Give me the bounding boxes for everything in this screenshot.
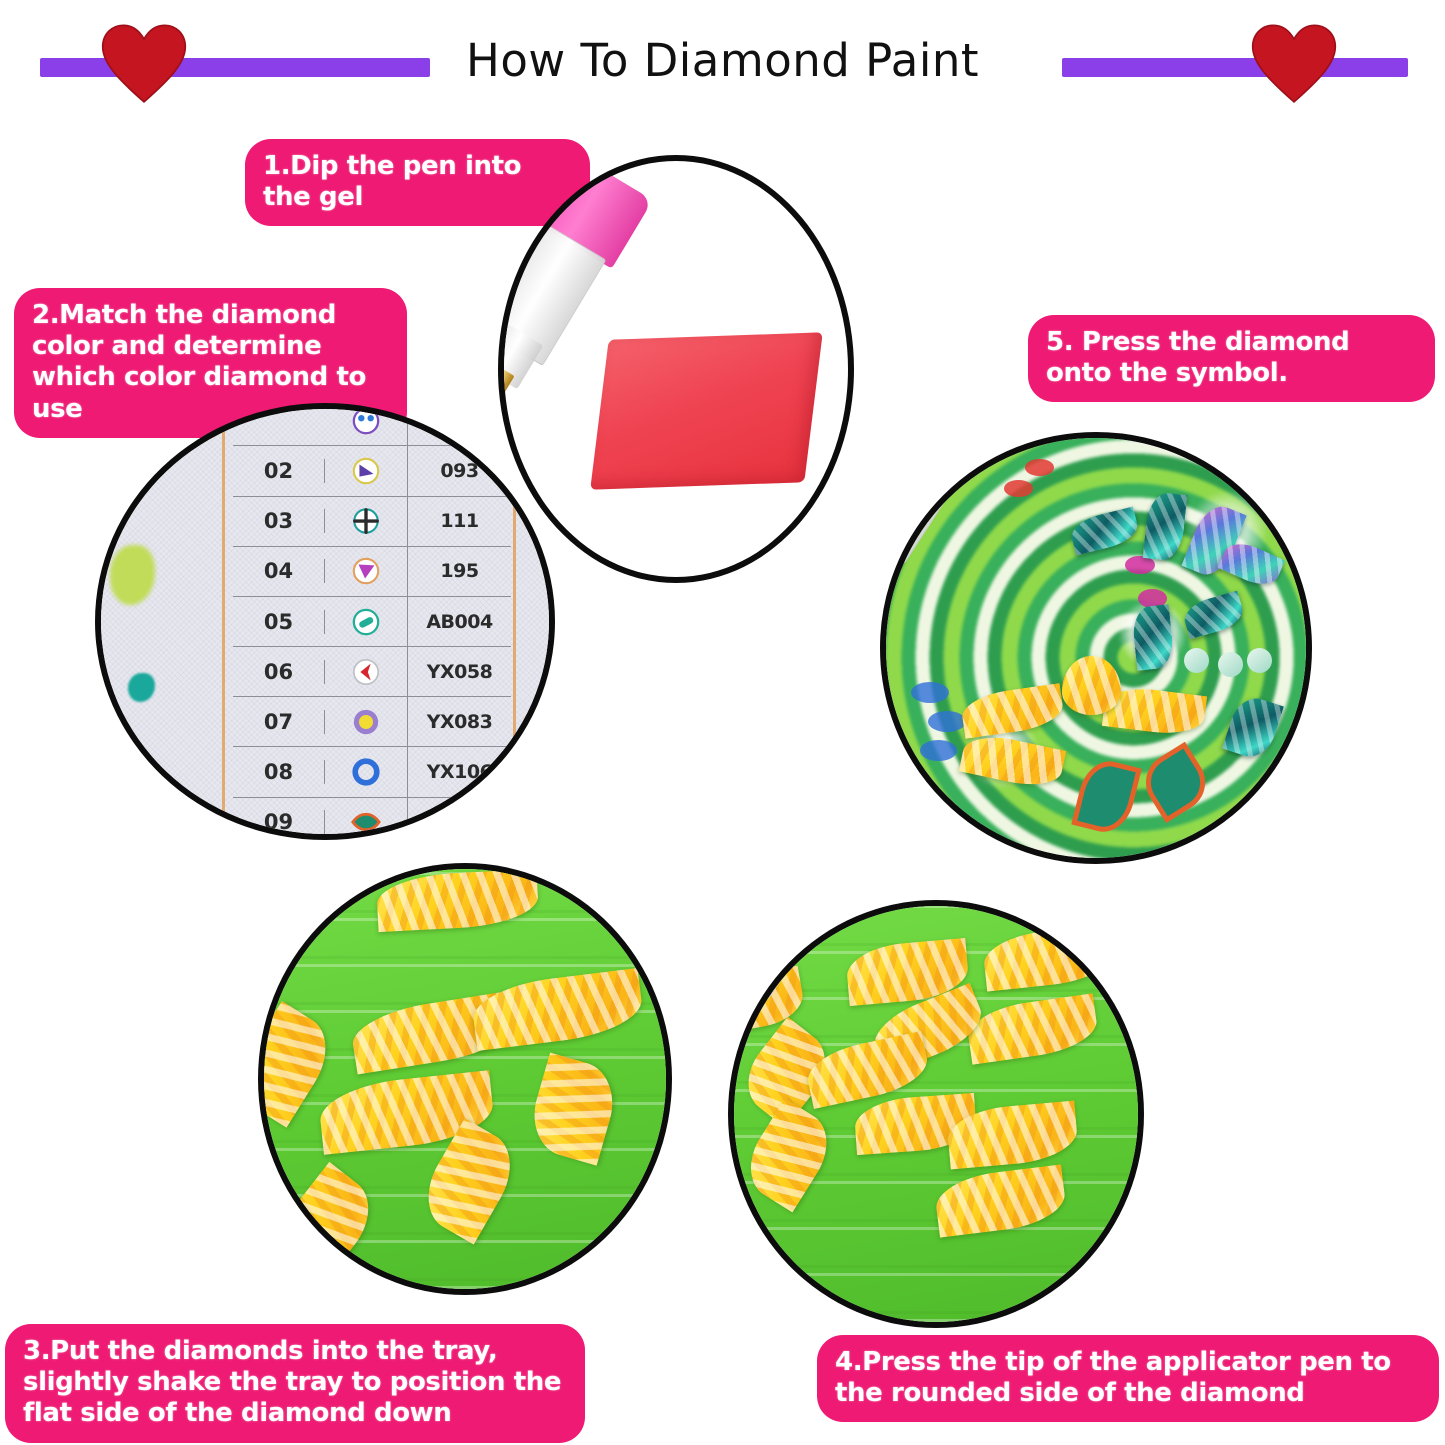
page-title: How To Diamond Paint xyxy=(0,34,1445,87)
step-5-label: 5. Press the diamond onto the symbol. xyxy=(1028,315,1435,402)
printed-symbol xyxy=(1004,480,1033,497)
triangle-icon xyxy=(325,446,408,495)
photo-inner xyxy=(264,869,666,1289)
capsule-icon xyxy=(325,597,408,646)
table-row: 09 YX125 xyxy=(233,798,511,840)
table-row: 08 YX106 xyxy=(233,747,511,797)
row-code: 111 xyxy=(408,510,511,532)
row-number: 07 xyxy=(233,710,325,734)
photo-inner xyxy=(504,161,848,577)
chevron-left-icon xyxy=(325,647,408,696)
row-number: 02 xyxy=(233,459,325,483)
pen-dipping-into-gel-photo xyxy=(498,155,854,583)
row-code: 195 xyxy=(408,560,511,582)
printed-symbol xyxy=(911,682,949,703)
row-code: AB004 xyxy=(408,611,511,633)
gel-pad xyxy=(591,332,824,489)
triangle-down-icon xyxy=(325,547,408,596)
canvas-edge-line xyxy=(513,409,516,834)
canvas-edge-line xyxy=(222,409,225,834)
filled-disc-icon xyxy=(325,697,408,746)
photo-inner xyxy=(886,438,1306,858)
table-row: 02 093 xyxy=(233,446,511,496)
symbol-legend-table: 028 02 093 03 xyxy=(233,403,511,840)
row-number: 05 xyxy=(233,610,325,634)
plus-icon xyxy=(325,497,408,546)
row-code: YX083 xyxy=(408,711,511,733)
row-code: YX106 xyxy=(408,761,511,783)
infographic-page: How To Diamond Paint 1.Dip the pen into … xyxy=(0,0,1445,1445)
ring-icon xyxy=(325,747,408,796)
row-code: 093 xyxy=(408,460,511,482)
row-number: 09 xyxy=(233,810,325,834)
row-number: 08 xyxy=(233,760,325,784)
printed-symbol xyxy=(1025,459,1054,476)
photo-inner xyxy=(734,906,1138,1322)
row-code: 028 xyxy=(408,410,511,432)
pen-picking-up-diamond-photo xyxy=(728,900,1144,1328)
table-row: 04 195 xyxy=(233,547,511,597)
row-number: 04 xyxy=(233,559,325,583)
leaf-icon xyxy=(325,798,408,840)
photo-inner: 028 02 093 03 xyxy=(101,409,549,834)
table-row: 03 111 xyxy=(233,497,511,547)
table-row: 05 AB004 xyxy=(233,597,511,647)
color-symbol-chart-photo: 028 02 093 03 xyxy=(95,403,555,840)
table-row: 06 YX058 xyxy=(233,647,511,697)
placing-diamond-on-canvas-photo xyxy=(880,432,1312,864)
printed-symbol xyxy=(928,711,966,732)
table-row: 028 xyxy=(233,403,511,446)
row-code: YX125 xyxy=(408,811,511,833)
step-3-label: 3.Put the diamonds into the tray, slight… xyxy=(5,1324,585,1443)
step-4-label: 4.Press the tip of the applicator pen to… xyxy=(817,1335,1439,1422)
row-number: 03 xyxy=(233,509,325,533)
row-number: 06 xyxy=(233,660,325,684)
row-code: YX058 xyxy=(408,661,511,683)
double-dot-circle-icon xyxy=(325,403,408,445)
table-row: 07 YX083 xyxy=(233,697,511,747)
diamonds-in-tray-photo xyxy=(258,863,672,1295)
